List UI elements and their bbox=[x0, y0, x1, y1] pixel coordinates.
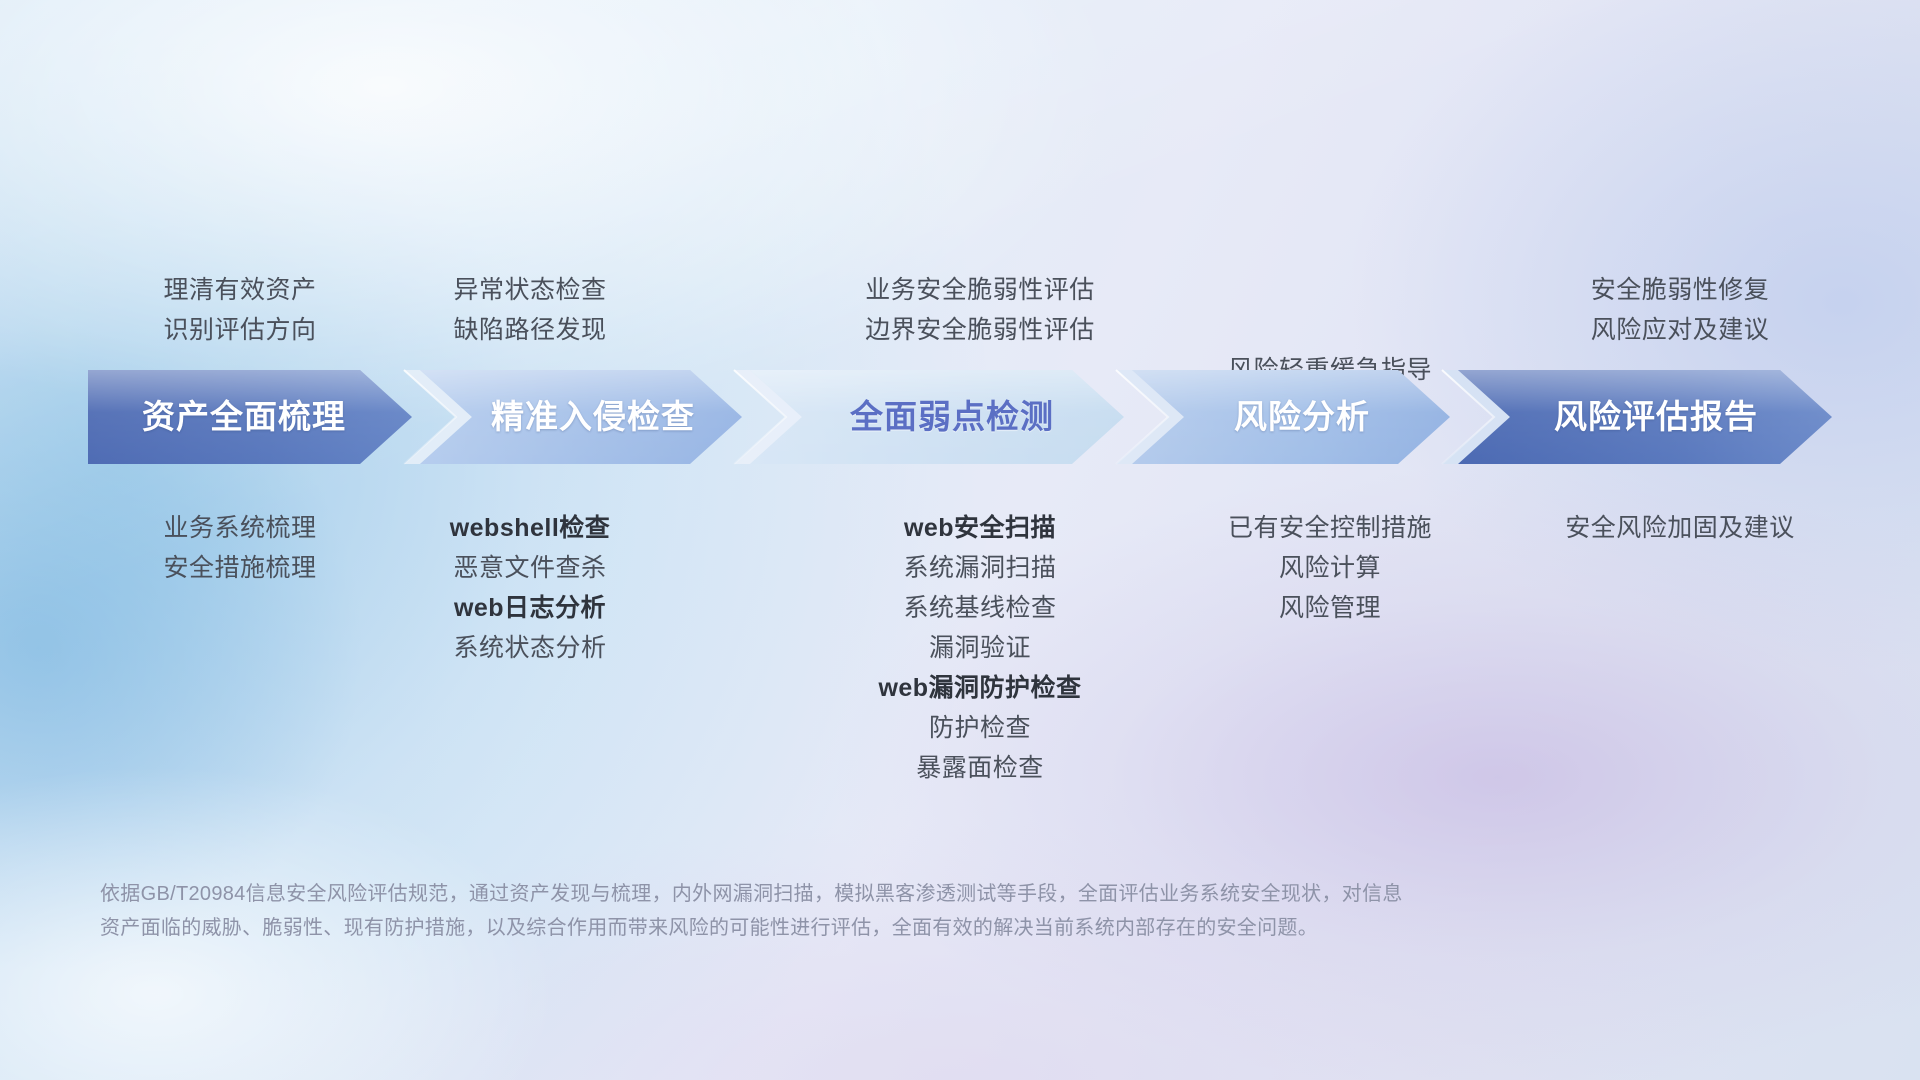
bottom-label: 暴露面检查 bbox=[760, 748, 1200, 788]
bottom-label: 恶意文件查杀 bbox=[370, 548, 690, 588]
top-label: 异常状态检查 bbox=[370, 270, 690, 310]
top-label: 理清有效资产 bbox=[80, 270, 400, 310]
top-labels-intrusion-check: 异常状态检查 缺陷路径发现 bbox=[370, 270, 690, 350]
bottom-label: 系统状态分析 bbox=[370, 628, 690, 668]
bottom-label: 安全风险加固及建议 bbox=[1470, 508, 1890, 548]
top-labels-assessment-report: 安全脆弱性修复 风险应对及建议 bbox=[1490, 270, 1870, 350]
bottom-label: 风险管理 bbox=[1120, 588, 1540, 628]
top-label: 业务安全脆弱性评估 bbox=[780, 270, 1180, 310]
bottom-labels-assessment-report: 安全风险加固及建议 bbox=[1470, 508, 1890, 548]
slide-canvas: 理清有效资产 识别评估方向 异常状态检查 缺陷路径发现 业务安全脆弱性评估 边界… bbox=[0, 0, 1920, 1080]
top-label: 安全脆弱性修复 bbox=[1490, 270, 1870, 310]
footer-line: 依据GB/T20984信息安全风险评估规范，通过资产发现与梳理，内外网漏洞扫描，… bbox=[100, 877, 1660, 911]
stage-label-asset-inventory[interactable]: 资产全面梳理 bbox=[88, 368, 400, 466]
stage-label-intrusion-check[interactable]: 精准入侵检查 bbox=[440, 368, 746, 466]
top-labels-weakness-detection: 业务安全脆弱性评估 边界安全脆弱性评估 bbox=[780, 270, 1180, 350]
bottom-label: 防护检查 bbox=[760, 708, 1200, 748]
bottom-labels-intrusion-check: webshell检查 恶意文件查杀 web日志分析 系统状态分析 bbox=[370, 508, 690, 668]
top-label: 风险应对及建议 bbox=[1490, 310, 1870, 350]
bottom-label: 风险计算 bbox=[1120, 548, 1540, 588]
bottom-labels-asset-inventory: 业务系统梳理 安全措施梳理 bbox=[80, 508, 400, 588]
stage-label-assessment-report[interactable]: 风险评估报告 bbox=[1476, 368, 1836, 466]
top-label: 边界安全脆弱性评估 bbox=[780, 310, 1180, 350]
bottom-label: 业务系统梳理 bbox=[80, 508, 400, 548]
bottom-label: webshell检查 bbox=[370, 508, 690, 548]
bottom-label: 安全措施梳理 bbox=[80, 548, 400, 588]
footer-description: 依据GB/T20984信息安全风险评估规范，通过资产发现与梳理，内外网漏洞扫描，… bbox=[100, 877, 1660, 945]
stage-label-weakness-detection[interactable]: 全面弱点检测 bbox=[776, 368, 1128, 466]
bottom-label: 漏洞验证 bbox=[760, 628, 1200, 668]
bottom-label: web漏洞防护检查 bbox=[760, 668, 1200, 708]
stage-label-risk-analysis[interactable]: 风险分析 bbox=[1150, 368, 1454, 466]
footer-line: 资产面临的威胁、脆弱性、现有防护措施，以及综合作用而带来风险的可能性进行评估，全… bbox=[100, 911, 1660, 945]
top-label: 识别评估方向 bbox=[80, 310, 400, 350]
bottom-label: web日志分析 bbox=[370, 588, 690, 628]
top-labels-asset-inventory: 理清有效资产 识别评估方向 bbox=[80, 270, 400, 350]
top-label: 缺陷路径发现 bbox=[370, 310, 690, 350]
